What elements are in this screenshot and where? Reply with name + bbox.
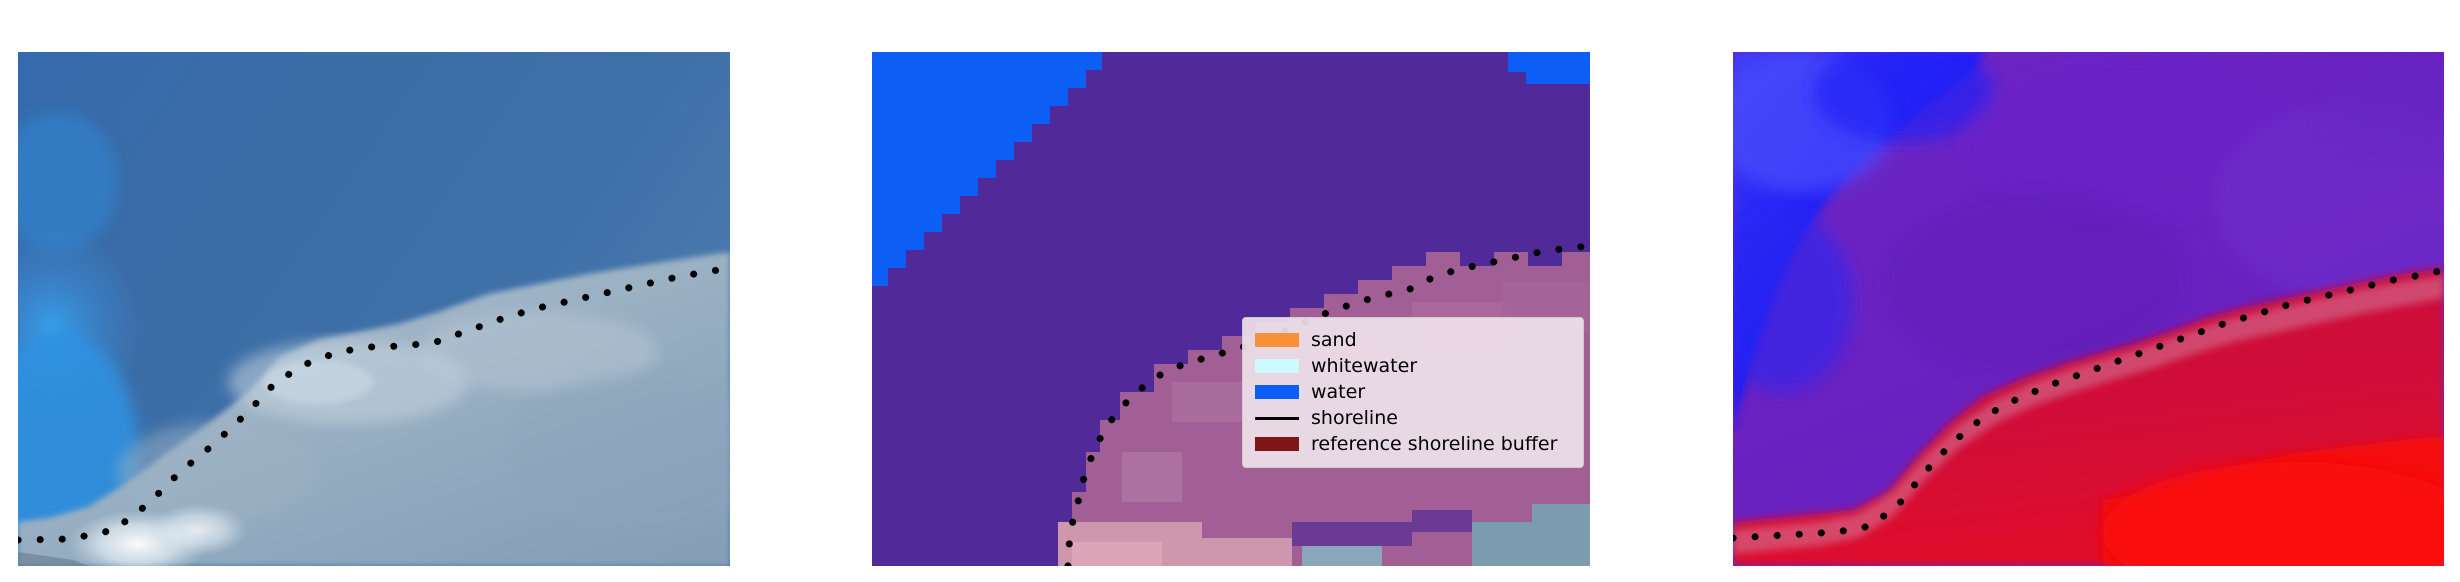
legend-swatch-reference-buffer: [1255, 431, 1301, 457]
legend-item-whitewater[interactable]: whitewater: [1255, 353, 1571, 379]
sar2377-raster-image: [18, 52, 730, 566]
figure-canvas: sar2377: [0, 0, 2460, 582]
legend-label-whitewater: whitewater: [1301, 353, 1417, 379]
legend-swatch-water: [1255, 379, 1301, 405]
legend-item-sand[interactable]: sand: [1255, 327, 1571, 353]
panel-sar2377[interactable]: sar2377: [18, 52, 730, 566]
whitewater-color-patch: [1255, 359, 1299, 373]
legend-swatch-whitewater: [1255, 353, 1301, 379]
legend-item-reference-shoreline-buffer[interactable]: reference shoreline buffer: [1255, 431, 1571, 457]
l5-raster-image: [1733, 52, 2444, 566]
panel-l5[interactable]: L5: [1733, 52, 2444, 566]
legend-label-sand: sand: [1301, 327, 1357, 353]
legend-label-water: water: [1301, 379, 1365, 405]
legend-label-shoreline: shoreline: [1301, 405, 1398, 431]
shoreline-line-sample: [1255, 417, 1299, 420]
legend-swatch-sand: [1255, 327, 1301, 353]
legend-swatch-shoreline: [1255, 405, 1301, 431]
water-color-patch: [1255, 385, 1299, 399]
panel-classified-1994-05-11-09-19-31[interactable]: 1994-05-11-09-19-31: [872, 52, 1590, 566]
classified-raster-image: [872, 52, 1590, 566]
sand-color-patch: [1255, 333, 1299, 347]
legend-item-shoreline[interactable]: shoreline: [1255, 405, 1571, 431]
legend-item-water[interactable]: water: [1255, 379, 1571, 405]
reference-buffer-color-patch: [1255, 437, 1299, 451]
legend-box[interactable]: sand whitewater water shoreline referenc: [1242, 317, 1584, 468]
legend-label-reference-shoreline-buffer: reference shoreline buffer: [1301, 431, 1557, 457]
